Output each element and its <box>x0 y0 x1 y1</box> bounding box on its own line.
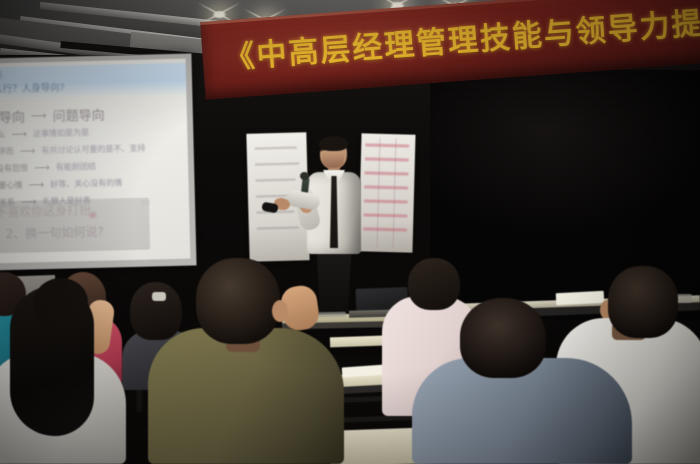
paper-sheet <box>556 291 605 305</box>
projection-screen: 主要点 为什么行？人身导向? 人身导向 ⟶ 问题导向 人是什么 ⟶ 这事情如是为… <box>0 53 197 270</box>
projector-glow <box>0 59 190 264</box>
flipchart-right <box>358 133 415 252</box>
spotlight-icon <box>212 10 227 19</box>
presenter-legs <box>314 248 354 320</box>
photograph-scene: 《中高层经理管理技能与领导力提升》 主要点 为什么行？人身导向? 人身导向 ⟶ … <box>0 0 700 464</box>
attendee-ear <box>272 300 288 322</box>
attendee-head <box>460 298 546 378</box>
projected-slide: 主要点 为什么行？人身导向? 人身导向 ⟶ 问题导向 人是什么 ⟶ 这事情如是为… <box>0 59 190 264</box>
microphone-head-icon <box>300 172 309 180</box>
attendee-head <box>608 266 678 338</box>
attendee-head <box>196 258 280 344</box>
attendee-head <box>130 282 182 340</box>
presenter-face-shading <box>322 152 344 168</box>
attendee-head <box>408 258 460 310</box>
desk-items <box>318 312 346 317</box>
presenter-hair <box>319 136 348 151</box>
hair-clip-icon <box>152 292 166 301</box>
attendee-head <box>34 278 88 326</box>
